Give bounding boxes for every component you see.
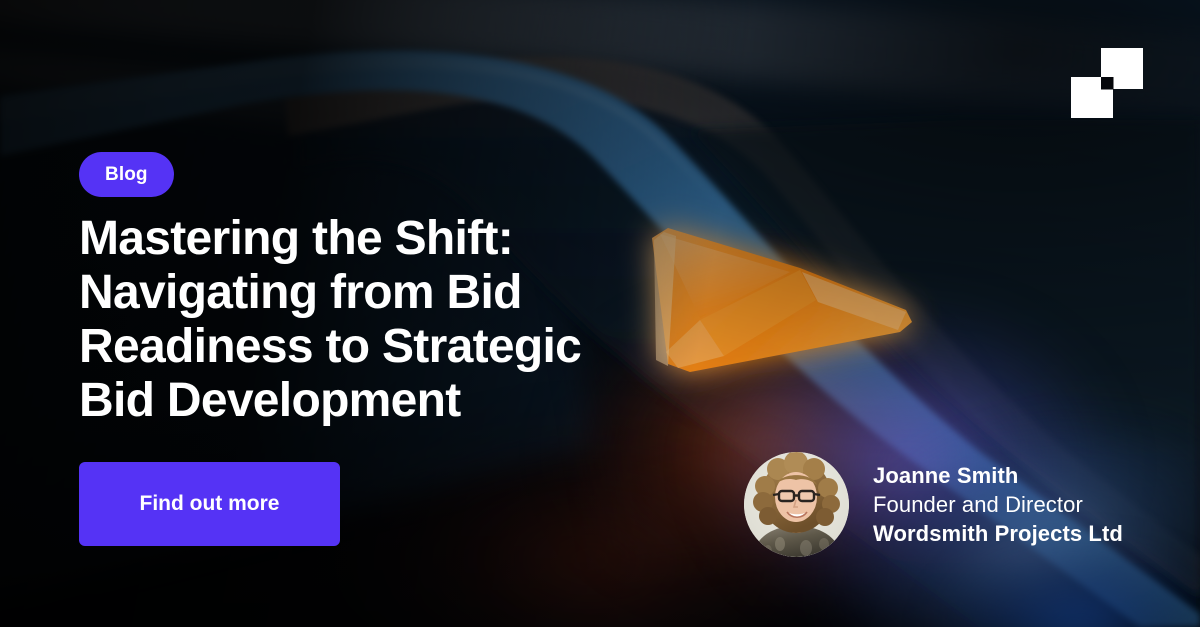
category-badge[interactable]: Blog (79, 152, 174, 197)
author-name: Joanne Smith (873, 465, 1123, 487)
author-role: Founder and Director (873, 494, 1123, 516)
author-organisation: Wordsmith Projects Ltd (873, 523, 1123, 545)
author-block: Joanne Smith Founder and Director Wordsm… (744, 452, 1123, 557)
page-title-line-1: Mastering the Shift: (79, 212, 699, 266)
author-details: Joanne Smith Founder and Director Wordsm… (873, 465, 1123, 545)
page-title-line-4: Bid Development (79, 374, 699, 428)
page-title-line-2: Navigating from Bid (79, 266, 699, 320)
page-title: Mastering the Shift: Navigating from Bid… (79, 212, 699, 428)
avatar (744, 452, 849, 557)
offset-squares-logo-icon (1071, 48, 1143, 118)
avatar-portrait-image (744, 452, 849, 557)
category-badge-label: Blog (105, 164, 148, 186)
social-share-card: Blog Mastering the Shift: Navigating fro… (0, 0, 1200, 627)
find-out-more-button[interactable]: Find out more (79, 462, 340, 546)
card-content: Blog Mastering the Shift: Navigating fro… (0, 0, 1200, 627)
brand-logo[interactable] (1071, 48, 1143, 118)
page-title-line-3: Readiness to Strategic (79, 320, 699, 374)
find-out-more-label: Find out more (140, 492, 280, 516)
